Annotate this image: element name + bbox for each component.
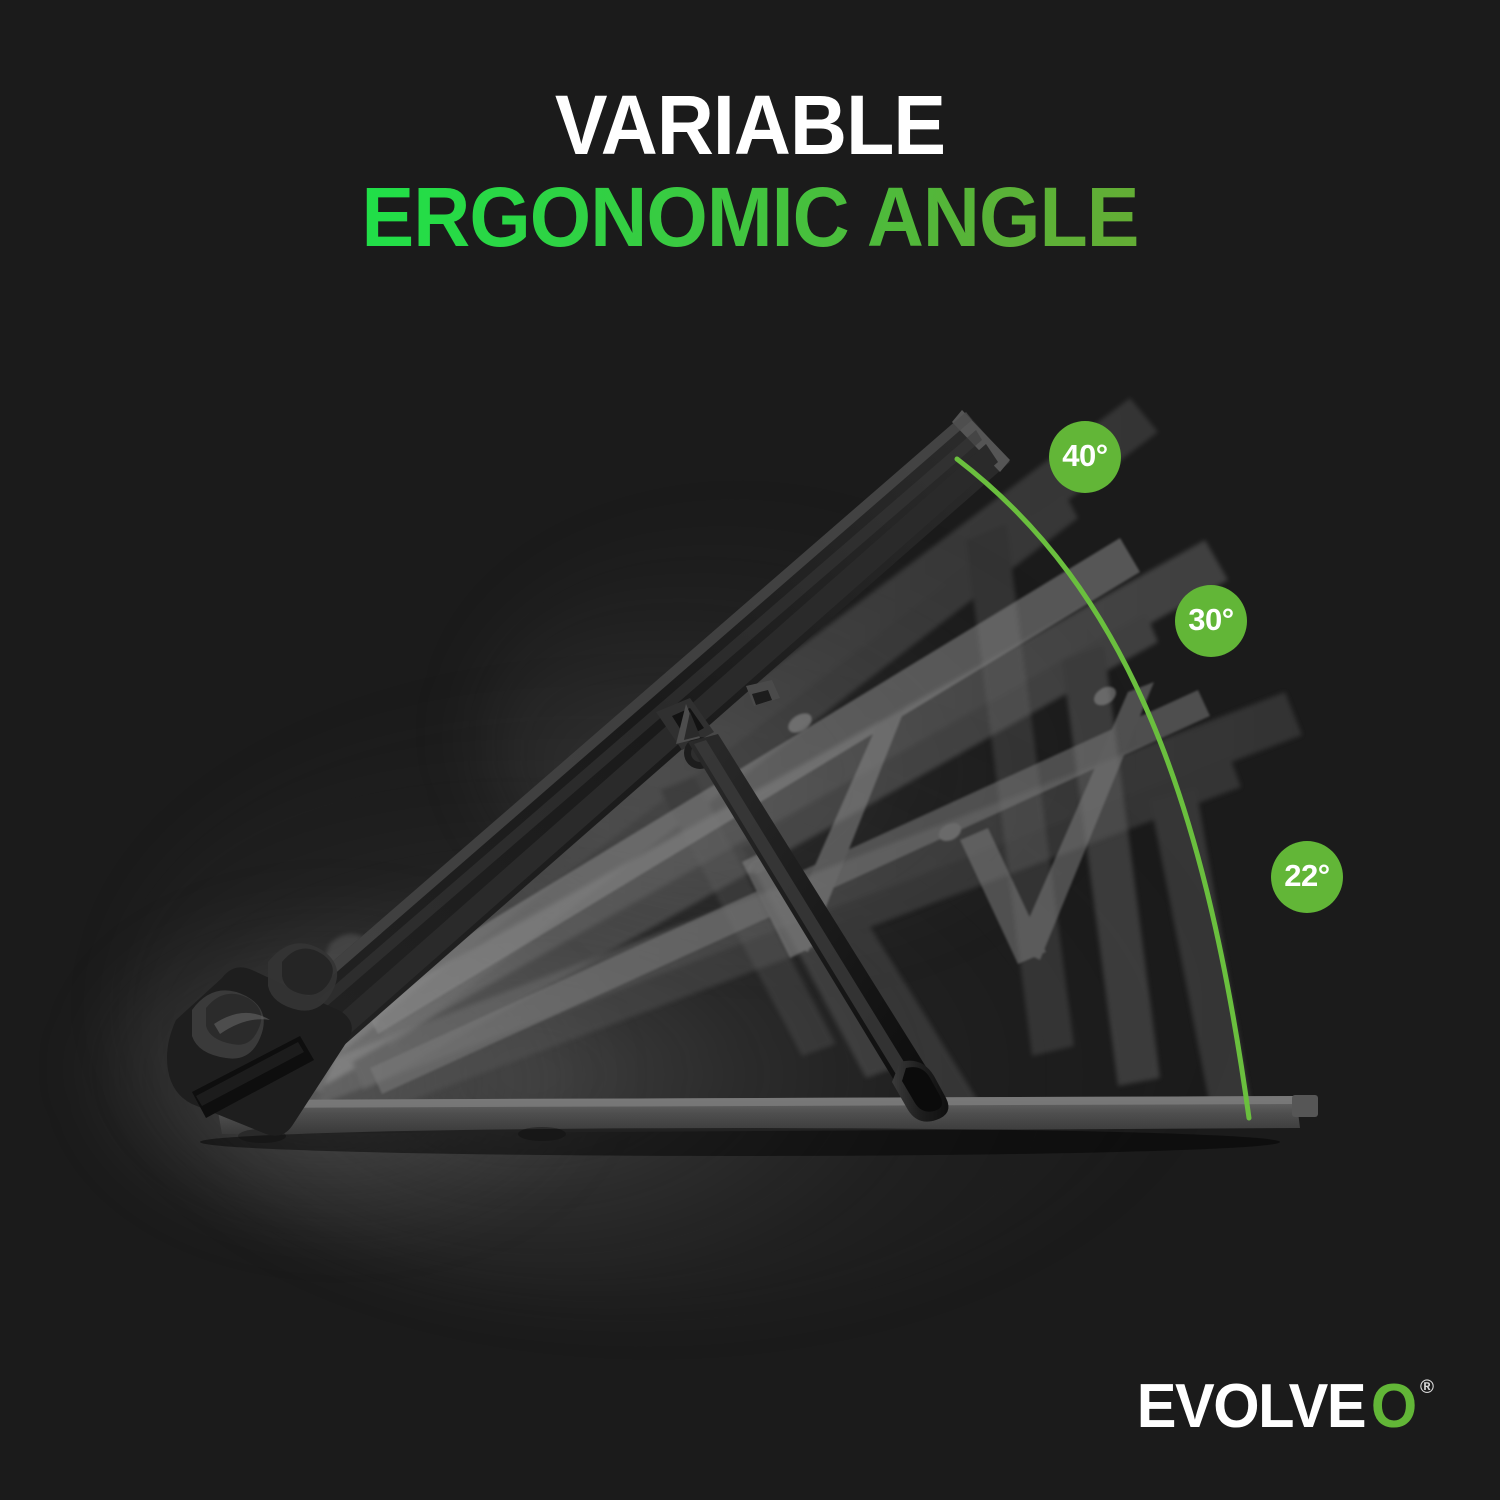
angle-badge-30: 30°: [1175, 585, 1247, 657]
stand-base-plate: [200, 1095, 1318, 1156]
angle-badge-label: 40°: [1062, 438, 1107, 474]
poster-canvas: VARIABLE ERGONOMIC ANGLE: [0, 0, 1500, 1500]
brand-wordmark: EVOLVE: [1137, 1376, 1365, 1438]
headline-line-2: ERGONOMIC ANGLE: [45, 178, 1455, 258]
angle-badge-22: 22°: [1271, 841, 1343, 913]
headline-block: VARIABLE ERGONOMIC ANGLE: [0, 86, 1500, 258]
brand-accent-letter: O: [1371, 1376, 1416, 1438]
brand-logo: EVOLVE O ®: [1132, 1376, 1434, 1438]
angle-badge-label: 22°: [1284, 858, 1329, 894]
headline-line-1: VARIABLE: [45, 86, 1455, 166]
registered-trademark-icon: ®: [1420, 1378, 1434, 1397]
angle-badge-40: 40°: [1049, 421, 1121, 493]
angle-badge-label: 30°: [1188, 602, 1233, 638]
